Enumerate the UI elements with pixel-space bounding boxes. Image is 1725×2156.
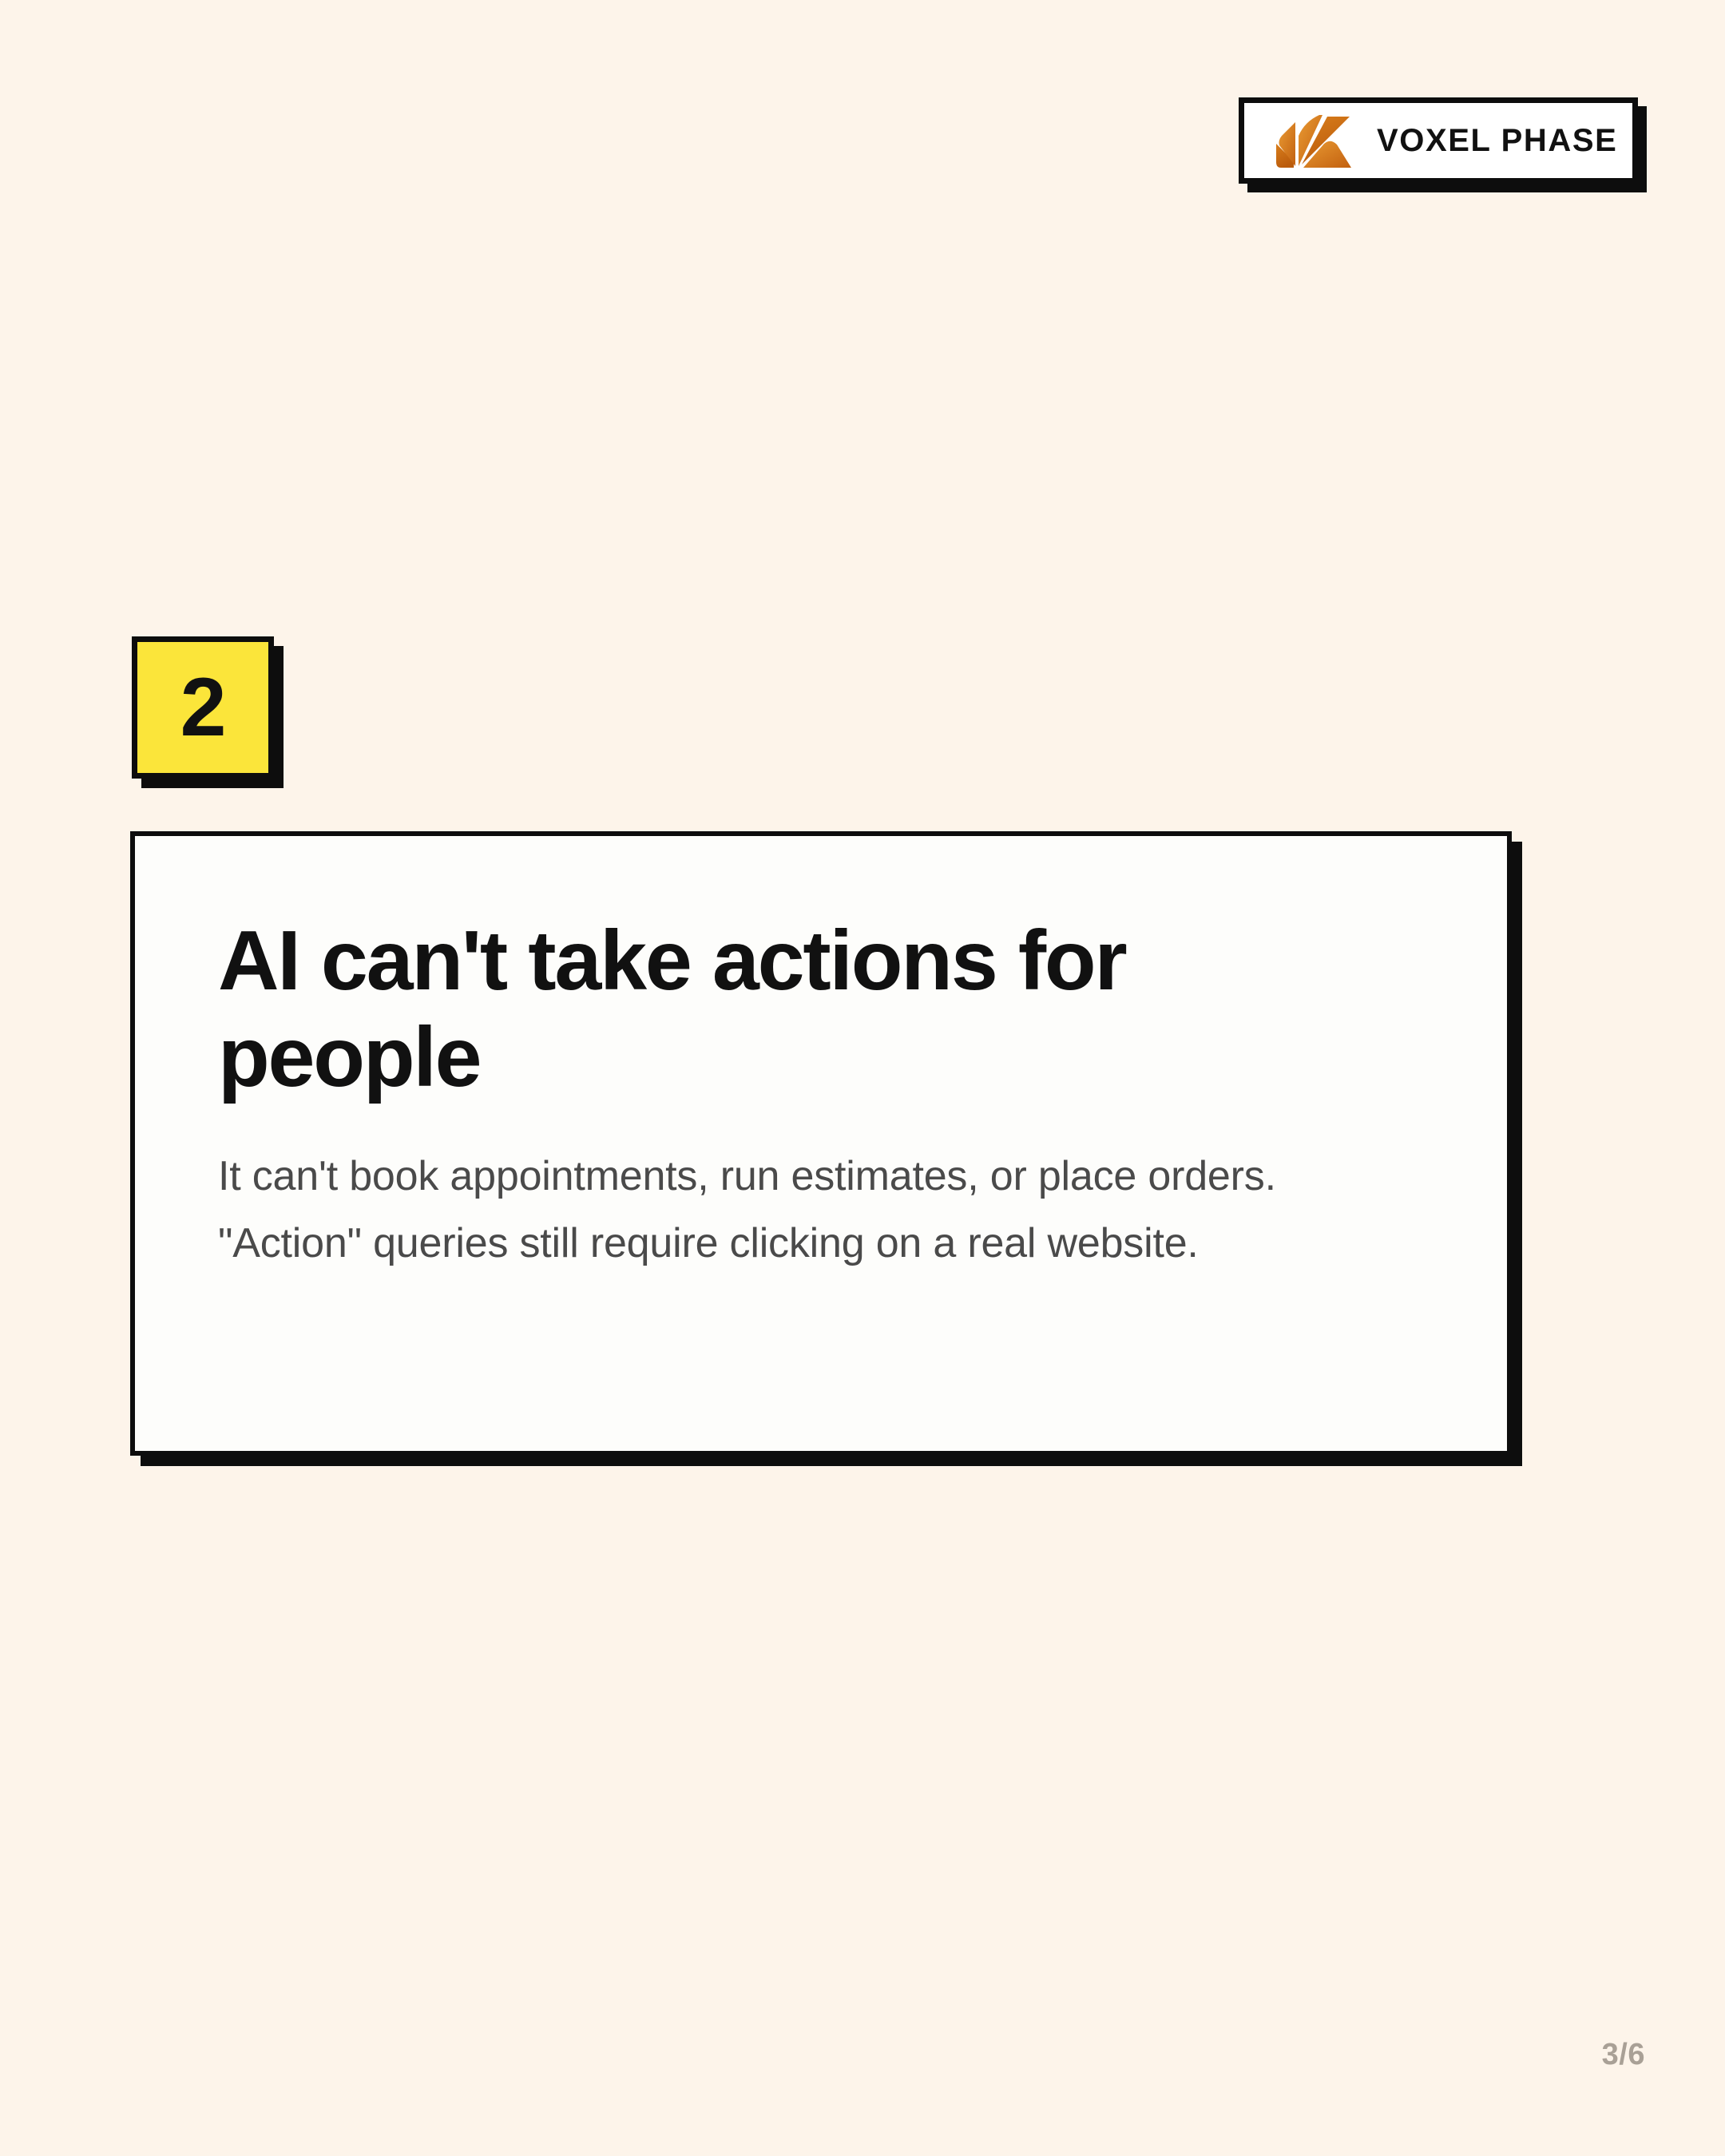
brand-badge: VOXEL PHASE [1239,97,1638,184]
content-card: AI can't take actions for people It can'… [130,831,1512,1456]
page-counter: 3/6 [0,2038,1645,2072]
slide-canvas: VOXEL PHASE 2 AI can't take actions for … [0,0,1725,2156]
slide-number-badge: 2 [132,636,274,779]
slide-number-value: 2 [180,666,226,749]
leaf-fan-icon [1273,112,1353,169]
card-heading: AI can't take actions for people [218,913,1256,1106]
brand-name: VOXEL PHASE [1377,125,1617,157]
card-body-text: It can't book appointments, run estimate… [218,1143,1400,1277]
